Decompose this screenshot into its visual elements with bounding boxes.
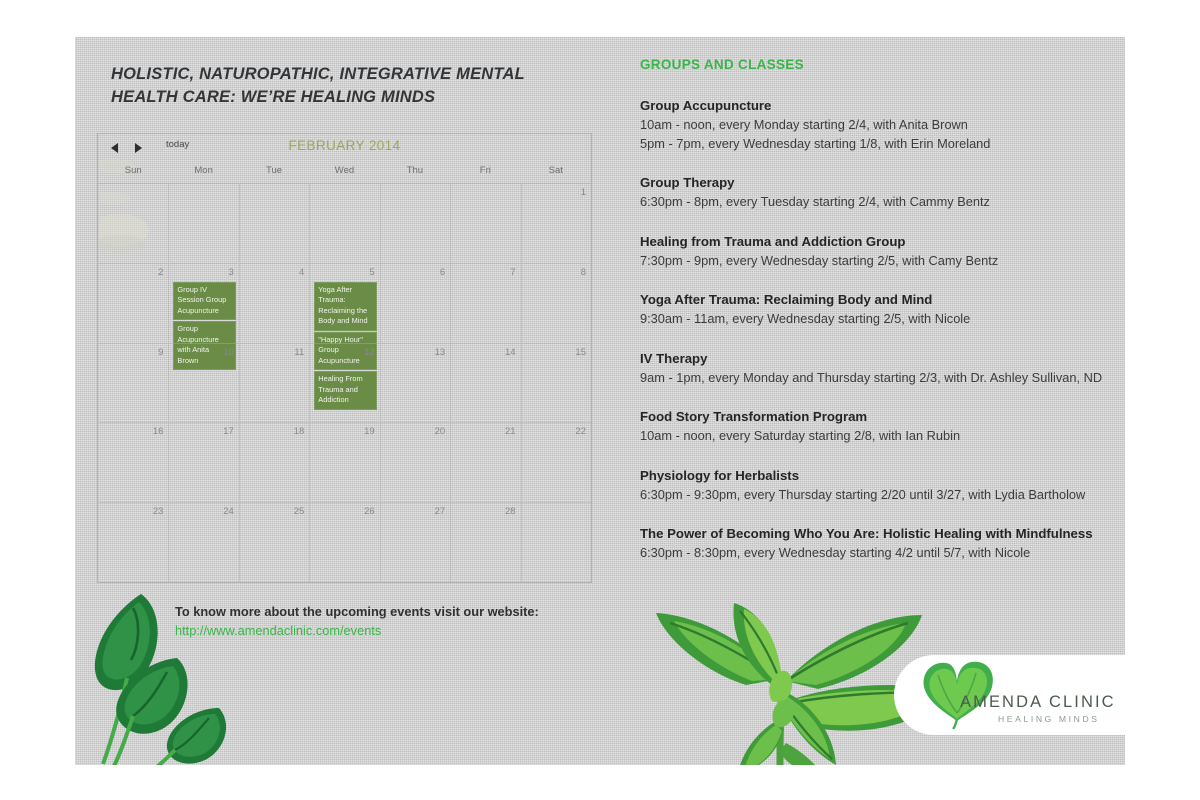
groups-list: Group Accupuncture10am - noon, every Mon… (640, 96, 1110, 563)
calendar-day-cell[interactable]: 23 (98, 502, 168, 582)
calendar-day-number: 8 (581, 267, 586, 278)
calendar-event[interactable]: Group IV Session Group Acupuncture (173, 282, 235, 321)
calendar-month-title: FEBRUARY 2014 (98, 138, 591, 153)
group-class-item: Group Accupuncture10am - noon, every Mon… (640, 96, 1110, 153)
logo-name: AMENDA CLINIC (960, 693, 1116, 712)
calendar-day-cell[interactable]: 21 (450, 422, 520, 502)
calendar-widget: today FEBRUARY 2014 Sun Mon Tue Wed Thu … (97, 133, 592, 583)
group-class-details: 10am - noon, every Monday starting 2/4, … (640, 116, 1110, 135)
calendar-grid: 123Group IV Session Group AcupunctureGro… (98, 183, 591, 582)
calendar-day-number: 3 (229, 267, 234, 278)
calendar-day-number: 20 (435, 426, 446, 437)
calendar-day-cell[interactable]: 25 (239, 502, 309, 582)
calendar-day-number: 9 (158, 347, 163, 358)
logo-panel: AMENDA CLINIC HEALING MINDS (894, 655, 1125, 735)
calendar-day-cell[interactable]: 5Yoga After Trauma: Reclaiming the Body … (309, 263, 379, 343)
calendar-day-cell[interactable] (239, 183, 309, 263)
day-header-sun: Sun (98, 165, 168, 183)
leaf-decoration-left (83, 586, 233, 765)
calendar-day-number: 25 (294, 506, 305, 517)
group-class-title: Yoga After Trauma: Reclaiming Body and M… (640, 290, 1110, 309)
calendar-toolbar: today FEBRUARY 2014 (98, 134, 591, 164)
calendar-day-cell[interactable]: 4 (239, 263, 309, 343)
calendar-day-number: 27 (435, 506, 446, 517)
calendar-day-cell[interactable]: 15 (521, 343, 591, 423)
calendar-day-number: 19 (364, 426, 375, 437)
groups-and-classes-panel: GROUPS AND CLASSES Group Accupuncture10a… (640, 57, 1110, 583)
calendar-day-cell[interactable]: 9 (98, 343, 168, 423)
calendar-day-cell[interactable]: 12 (309, 343, 379, 423)
group-class-item: Physiology for Herbalists6:30pm - 9:30pm… (640, 466, 1110, 505)
calendar-day-cell[interactable]: 18 (239, 422, 309, 502)
day-header-wed: Wed (309, 165, 379, 183)
group-class-title: IV Therapy (640, 349, 1110, 368)
calendar-day-cell[interactable]: 7 (450, 263, 520, 343)
group-class-item: Food Story Transformation Program10am - … (640, 407, 1110, 446)
day-header-thu: Thu (380, 165, 450, 183)
group-class-details: 7:30pm - 9pm, every Wednesday starting 2… (640, 252, 1110, 271)
day-header-sat: Sat (521, 165, 591, 183)
calendar-day-cell[interactable]: 22 (521, 422, 591, 502)
calendar-day-number: 2 (158, 267, 163, 278)
calendar-day-number: 16 (153, 426, 164, 437)
calendar-day-number: 17 (223, 426, 234, 437)
calendar-day-cell[interactable]: 20 (380, 422, 450, 502)
calendar-day-number: 6 (440, 267, 445, 278)
group-class-details: 9:30am - 11am, every Wednesday starting … (640, 310, 1110, 329)
calendar-event[interactable]: Yoga After Trauma: Reclaiming the Body a… (314, 282, 376, 331)
group-class-item: The Power of Becoming Who You Are: Holis… (640, 524, 1110, 563)
calendar-day-number: 15 (575, 347, 586, 358)
calendar-day-cell[interactable]: 19 (309, 422, 379, 502)
calendar-day-cell[interactable]: 26 (309, 502, 379, 582)
calendar-day-cell[interactable]: 11 (239, 343, 309, 423)
calendar-day-number: 1 (581, 187, 586, 198)
groups-heading: GROUPS AND CLASSES (640, 57, 1110, 72)
group-class-details: 9am - 1pm, every Monday and Thursday sta… (640, 369, 1110, 388)
group-class-title: Healing from Trauma and Addiction Group (640, 232, 1110, 251)
calendar-day-number: 18 (294, 426, 305, 437)
calendar-day-cell[interactable]: 3Group IV Session Group AcupunctureGroup… (168, 263, 238, 343)
calendar-day-number: 13 (435, 347, 446, 358)
logo-text: AMENDA CLINIC HEALING MINDS (960, 693, 1116, 724)
group-class-details: 6:30pm - 8pm, every Tuesday starting 2/4… (640, 193, 1110, 212)
calendar-day-cell[interactable]: 14 (450, 343, 520, 423)
page-title: HOLISTIC, NATUROPATHIC, INTEGRATIVE MENT… (111, 63, 581, 109)
calendar-day-number: 10 (223, 347, 234, 358)
calendar-day-number: 24 (223, 506, 234, 517)
logo-tagline: HEALING MINDS (998, 714, 1116, 724)
calendar-day-cell[interactable]: 17 (168, 422, 238, 502)
calendar-day-number: 14 (505, 347, 516, 358)
website-note: To know more about the upcoming events v… (175, 602, 605, 640)
calendar-day-cell[interactable] (309, 183, 379, 263)
day-header-fri: Fri (450, 165, 520, 183)
calendar-day-cell[interactable]: 6 (380, 263, 450, 343)
calendar-day-cell[interactable]: 16 (98, 422, 168, 502)
calendar-day-cell[interactable]: 24 (168, 502, 238, 582)
group-class-title: Physiology for Herbalists (640, 466, 1110, 485)
website-link[interactable]: http://www.amendaclinic.com/events (175, 621, 605, 640)
calendar-day-cell[interactable]: 28 (450, 502, 520, 582)
group-class-item: Healing from Trauma and Addiction Group7… (640, 232, 1110, 271)
calendar-day-number: 21 (505, 426, 516, 437)
calendar-day-cell[interactable]: 1 (521, 183, 591, 263)
calendar-day-cell[interactable] (380, 183, 450, 263)
group-class-details: 5pm - 7pm, every Wednesday starting 1/8,… (640, 135, 1110, 154)
calendar-day-cell[interactable]: 10 (168, 343, 238, 423)
calendar-day-cell[interactable] (168, 183, 238, 263)
calendar-day-number: 23 (153, 506, 164, 517)
day-header-tue: Tue (239, 165, 309, 183)
calendar-day-cell[interactable]: 13 (380, 343, 450, 423)
group-class-title: The Power of Becoming Who You Are: Holis… (640, 524, 1110, 543)
group-class-item: IV Therapy9am - 1pm, every Monday and Th… (640, 349, 1110, 388)
group-class-item: Group Therapy6:30pm - 8pm, every Tuesday… (640, 173, 1110, 212)
calendar-day-number: 12 (364, 347, 375, 358)
calendar-day-cell[interactable] (450, 183, 520, 263)
group-class-details: 6:30pm - 8:30pm, every Wednesday startin… (640, 544, 1110, 563)
poster-page: HOLISTIC, NATUROPATHIC, INTEGRATIVE MENT… (75, 37, 1125, 765)
group-class-details: 6:30pm - 9:30pm, every Thursday starting… (640, 486, 1110, 505)
group-class-details: 10am - noon, every Saturday starting 2/8… (640, 427, 1110, 446)
calendar-day-number: 28 (505, 506, 516, 517)
calendar-day-number: 22 (575, 426, 586, 437)
calendar-day-number: 7 (510, 267, 515, 278)
group-class-item: Yoga After Trauma: Reclaiming Body and M… (640, 290, 1110, 329)
calendar-day-cell[interactable] (521, 502, 591, 582)
group-class-title: Group Therapy (640, 173, 1110, 192)
calendar-day-cell[interactable]: 8 (521, 263, 591, 343)
calendar-day-cell[interactable]: 2 (98, 263, 168, 343)
group-class-title: Group Accupuncture (640, 96, 1110, 115)
calendar-day-number: 4 (299, 267, 304, 278)
calendar-day-headers: Sun Mon Tue Wed Thu Fri Sat (98, 165, 591, 183)
group-class-title: Food Story Transformation Program (640, 407, 1110, 426)
calendar-day-number: 11 (294, 347, 304, 358)
calendar-day-cell[interactable] (98, 183, 168, 263)
calendar-day-number: 26 (364, 506, 375, 517)
day-header-mon: Mon (168, 165, 238, 183)
calendar-day-number: 5 (369, 267, 374, 278)
calendar-day-cell[interactable]: 27 (380, 502, 450, 582)
